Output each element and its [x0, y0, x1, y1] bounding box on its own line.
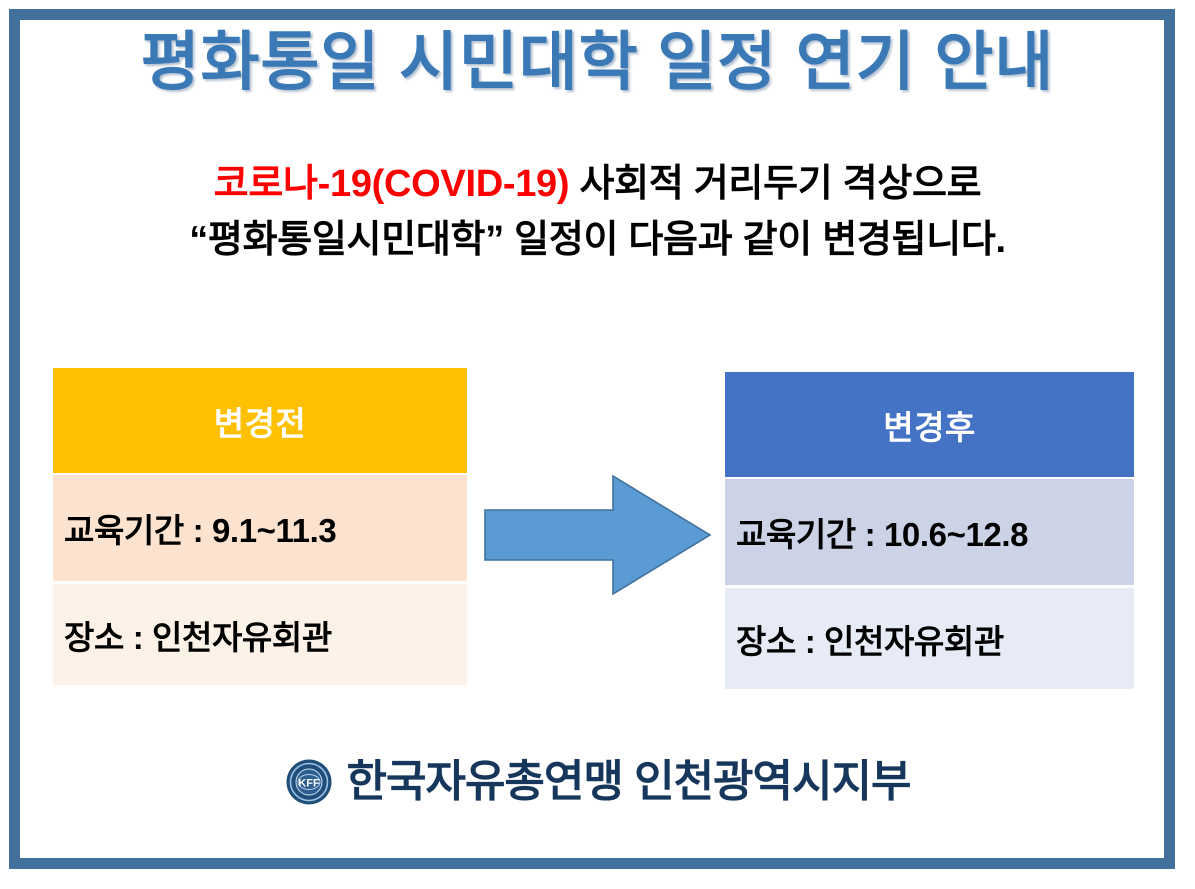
organization-name: 한국자유총연맹 인천광역시지부 [347, 760, 911, 804]
after-change-table: 변경후 교육기간 : 10.6~12.8 장소 : 인천자유회관 [725, 372, 1134, 689]
before-table-row-period: 교육기간 : 9.1~11.3 [53, 473, 467, 581]
after-table-row-venue: 장소 : 인천자유회관 [725, 585, 1134, 689]
subtitle-line-1-rest: 사회적 거리두기 격상으로 [569, 163, 981, 205]
covid-highlight-text: 코로나-19(COVID-19) [214, 163, 570, 205]
kff-logo-text: KFF [298, 778, 320, 790]
after-table-header: 변경후 [725, 372, 1134, 477]
notice-subtitle: 코로나-19(COVID-19) 사회적 거리두기 격상으로 “평화통일시민대학… [0, 157, 1195, 269]
before-table-row-venue: 장소 : 인천자유회관 [53, 581, 467, 685]
before-change-table: 변경전 교육기간 : 9.1~11.3 장소 : 인천자유회관 [53, 368, 467, 685]
subtitle-line-1: 코로나-19(COVID-19) 사회적 거리두기 격상으로 [0, 157, 1195, 213]
arrow-right-icon [483, 474, 712, 596]
subtitle-line-2: “평화통일시민대학” 일정이 다음과 같이 변경됩니다. [0, 213, 1195, 269]
slide-canvas: 평화통일 시민대학 일정 연기 안내 코로나-19(COVID-19) 사회적 … [0, 0, 1195, 889]
page-title: 평화통일 시민대학 일정 연기 안내 [0, 26, 1195, 100]
after-table-row-period: 교육기간 : 10.6~12.8 [725, 477, 1134, 585]
footer-organization-line: KFF 한국자유총연맹 인천광역시지부 [0, 758, 1195, 806]
before-table-header: 변경전 [53, 368, 467, 473]
kff-emblem-icon: KFF [285, 758, 333, 806]
